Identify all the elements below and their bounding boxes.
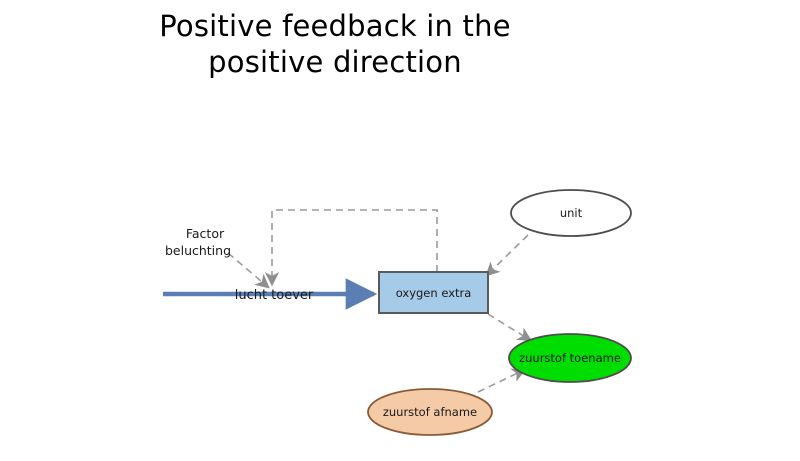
factor-label-line-1: Factor	[186, 226, 225, 241]
diagram-graphic: oxygen extra unit zuurstof toename zuurs…	[0, 0, 800, 461]
label-factor-beluchting: Factor beluchting	[165, 226, 231, 258]
node-decrease-ellipse[interactable]: zuurstof afname	[368, 389, 492, 435]
edge-unit-to-process	[487, 235, 528, 275]
diagram-canvas: Positive feedback in the positive direct…	[0, 0, 800, 461]
edge-decrease-to-increase	[478, 370, 524, 392]
label-lucht-toever: lucht toever	[235, 288, 314, 303]
edge-process-to-increase	[488, 314, 530, 340]
unit-ellipse-label: unit	[560, 206, 583, 220]
node-unit-ellipse[interactable]: unit	[511, 190, 631, 236]
factor-label-line-2: beluchting	[165, 243, 231, 258]
node-increase-ellipse[interactable]: zuurstof toename	[509, 334, 631, 382]
edge-factor-to-flow	[228, 253, 268, 287]
node-process-box[interactable]: oxygen extra	[379, 272, 488, 313]
decrease-ellipse-label: zuurstof afname	[383, 405, 477, 419]
increase-ellipse-label: zuurstof toename	[519, 351, 621, 365]
process-box-label: oxygen extra	[396, 286, 472, 300]
flow-label: lucht toever	[235, 288, 314, 303]
